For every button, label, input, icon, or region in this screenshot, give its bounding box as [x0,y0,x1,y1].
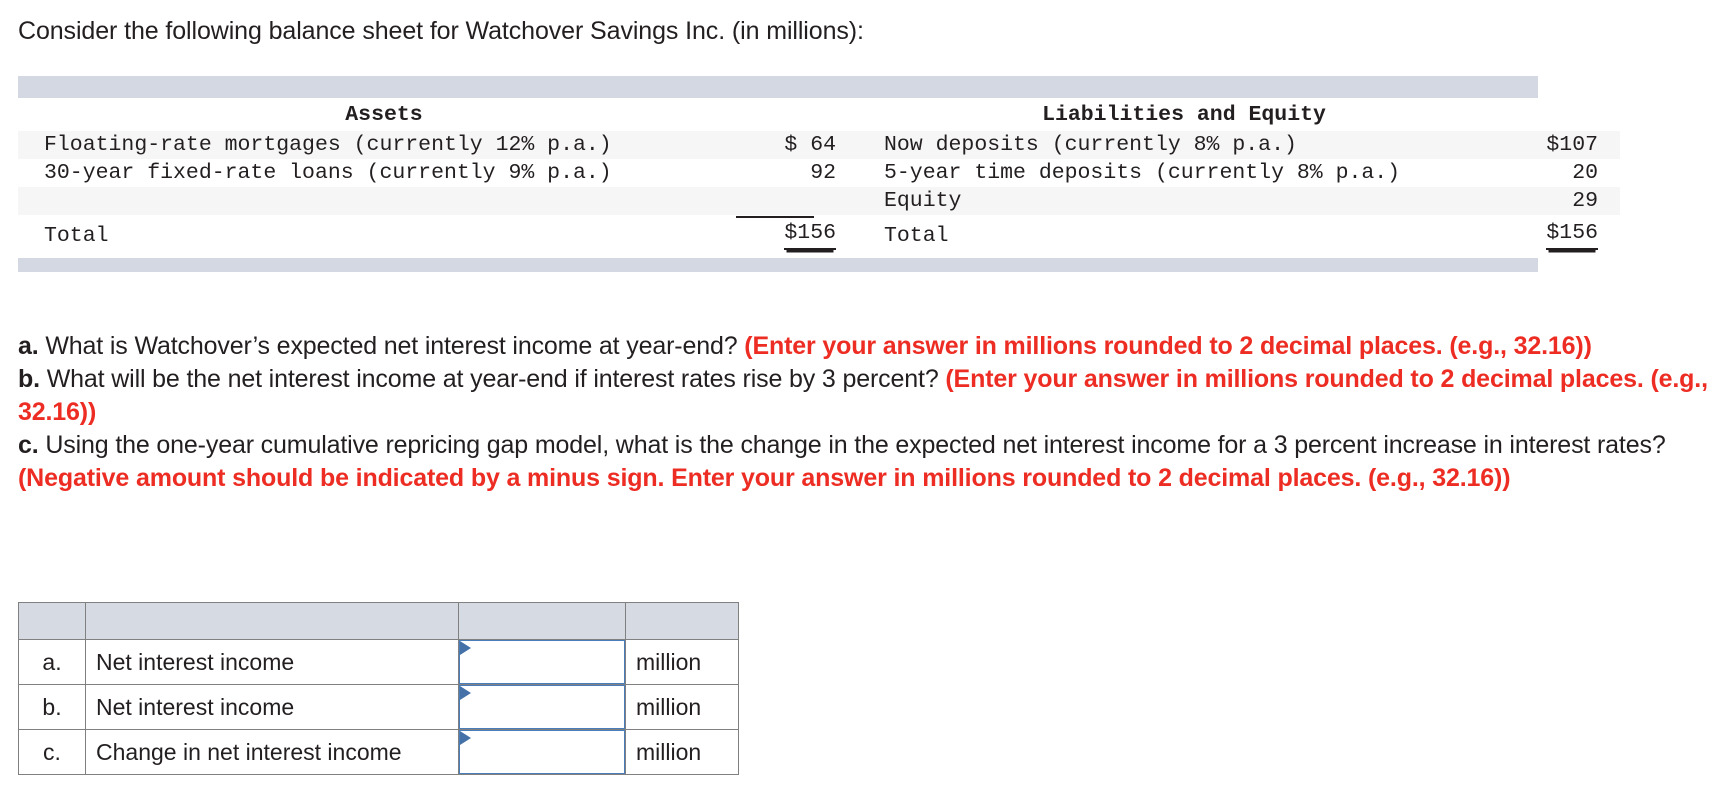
table-row: a. Net interest income million [19,640,739,685]
balance-sheet: Assets Liabilities and Equity Floating-r… [18,76,1538,272]
column-gap [858,131,872,159]
asset-subtotal-rule [724,187,858,215]
liability-value: 29 [1484,187,1620,215]
assets-header: Assets [18,98,724,131]
liability-value: $107 [1484,131,1620,159]
column-gap [858,187,872,215]
balance-sheet-table: Assets Liabilities and Equity Floating-r… [18,98,1620,258]
answer-table-header-row [19,603,739,640]
row-description-b: Net interest income [86,685,459,730]
table-row: b. Net interest income million [19,685,739,730]
answer-input-cell-b[interactable] [459,685,626,730]
answer-input-b[interactable] [459,685,625,729]
answer-grid: a. Net interest income million b. Net in… [18,602,739,775]
table-row: c. Change in net interest income million [19,730,739,775]
liabilities-total-value-cell: $156 [1484,215,1620,258]
balance-sheet-total-row: Total $156 Total $156 [18,215,1620,258]
column-gap [858,215,872,258]
answer-input-a[interactable] [459,640,625,684]
question-c: c. Using the one-year cumulative reprici… [18,429,1718,495]
table-row: Floating-rate mortgages (currently 12% p… [18,131,1620,159]
question-c-hint: (Negative amount should be indicated by … [18,464,1510,492]
table-row: 30-year fixed-rate loans (currently 9% p… [18,159,1620,187]
question-c-letter: c. [18,431,39,459]
question-a-text: What is Watchover’s expected net interes… [39,332,745,360]
assets-total-value: $156 [784,219,836,250]
liabilities-total-label: Total [872,215,1484,258]
question-a-letter: a. [18,332,39,360]
asset-label [18,187,724,215]
row-description-a: Net interest income [86,640,459,685]
row-unit-a: million [626,640,739,685]
assets-total-value-cell: $156 [724,215,858,258]
question-b-text: What will be the net interest income at … [40,365,945,393]
question-c-text: Using the one-year cumulative repricing … [39,431,1666,459]
header-index [19,603,86,640]
assets-value-header [724,98,858,131]
row-unit-b: million [626,685,739,730]
exercise-page: Consider the following balance sheet for… [0,0,1724,790]
answer-input-cell-c[interactable] [459,730,626,775]
answer-input-cell-a[interactable] [459,640,626,685]
column-gap [858,98,872,131]
asset-value: $ 64 [724,131,858,159]
row-index-b: b. [19,685,86,730]
question-b-letter: b. [18,365,40,393]
liability-label: Equity [872,187,1484,215]
question-a-hint: (Enter your answer in millions rounded t… [744,332,1591,360]
asset-label: Floating-rate mortgages (currently 12% p… [18,131,724,159]
questions-block: a. What is Watchover’s expected net inte… [18,330,1718,495]
asset-value: 92 [724,159,858,187]
balance-sheet-bottom-band [18,258,1538,272]
balance-sheet-header-row: Assets Liabilities and Equity [18,98,1620,131]
liabilities-total-value: $156 [1546,219,1598,250]
row-index-a: a. [19,640,86,685]
liabilities-header: Liabilities and Equity [872,98,1484,131]
header-description [86,603,459,640]
asset-label: 30-year fixed-rate loans (currently 9% p… [18,159,724,187]
liability-value: 20 [1484,159,1620,187]
assets-total-label: Total [18,215,724,258]
row-description-c: Change in net interest income [86,730,459,775]
answer-table: a. Net interest income million b. Net in… [18,602,739,775]
answer-input-c[interactable] [459,730,625,774]
question-a: a. What is Watchover’s expected net inte… [18,330,1718,363]
table-row: Equity 29 [18,187,1620,215]
header-answer [459,603,626,640]
intro-text: Consider the following balance sheet for… [18,14,864,48]
row-unit-c: million [626,730,739,775]
liabilities-value-header [1484,98,1620,131]
column-gap [858,159,872,187]
liability-label: 5-year time deposits (currently 8% p.a.) [872,159,1484,187]
row-index-c: c. [19,730,86,775]
header-unit [626,603,739,640]
question-b: b. What will be the net interest income … [18,363,1718,429]
balance-sheet-top-band [18,76,1538,98]
liability-label: Now deposits (currently 8% p.a.) [872,131,1484,159]
